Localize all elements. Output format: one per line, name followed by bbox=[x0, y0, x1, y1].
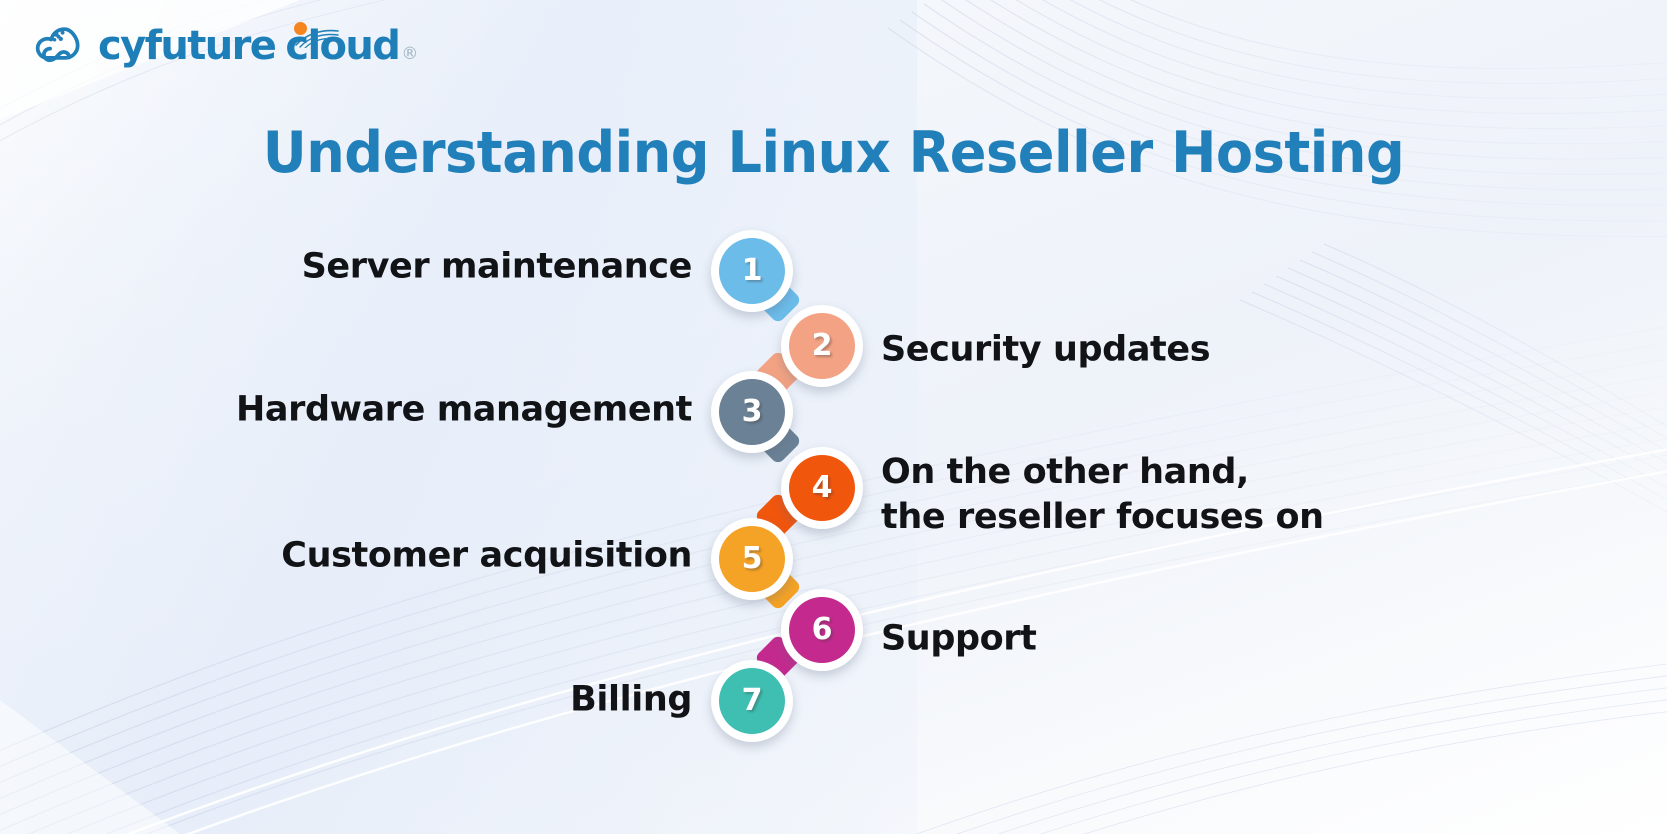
steps-chain: 1Server maintenance2Security updates3Har… bbox=[0, 0, 1667, 834]
step-number-7: 7 bbox=[719, 668, 785, 734]
step-label-5: Customer acquisition bbox=[281, 534, 692, 579]
infographic-canvas: cyfuturecloud® Understanding Linux Resel… bbox=[0, 0, 1667, 834]
step-label-7: Billing bbox=[570, 678, 692, 723]
step-label-2: Security updates bbox=[881, 328, 1210, 373]
step-number-2: 2 bbox=[789, 313, 855, 379]
step-number-5: 5 bbox=[719, 526, 785, 592]
step-node-1[interactable]: 1 bbox=[711, 230, 793, 312]
step-node-5[interactable]: 5 bbox=[711, 518, 793, 600]
step-number-6: 6 bbox=[789, 597, 855, 663]
step-node-7[interactable]: 7 bbox=[711, 660, 793, 742]
step-number-1: 1 bbox=[719, 238, 785, 304]
step-label-4: On the other hand, the reseller focuses … bbox=[881, 450, 1324, 540]
step-node-2[interactable]: 2 bbox=[781, 305, 863, 387]
step-label-3: Hardware management bbox=[236, 388, 692, 433]
step-label-6: Support bbox=[881, 617, 1036, 662]
step-label-1: Server maintenance bbox=[302, 245, 692, 290]
step-number-3: 3 bbox=[719, 379, 785, 445]
step-number-4: 4 bbox=[789, 455, 855, 521]
step-node-4[interactable]: 4 bbox=[781, 447, 863, 529]
step-node-3[interactable]: 3 bbox=[711, 371, 793, 453]
step-node-6[interactable]: 6 bbox=[781, 589, 863, 671]
